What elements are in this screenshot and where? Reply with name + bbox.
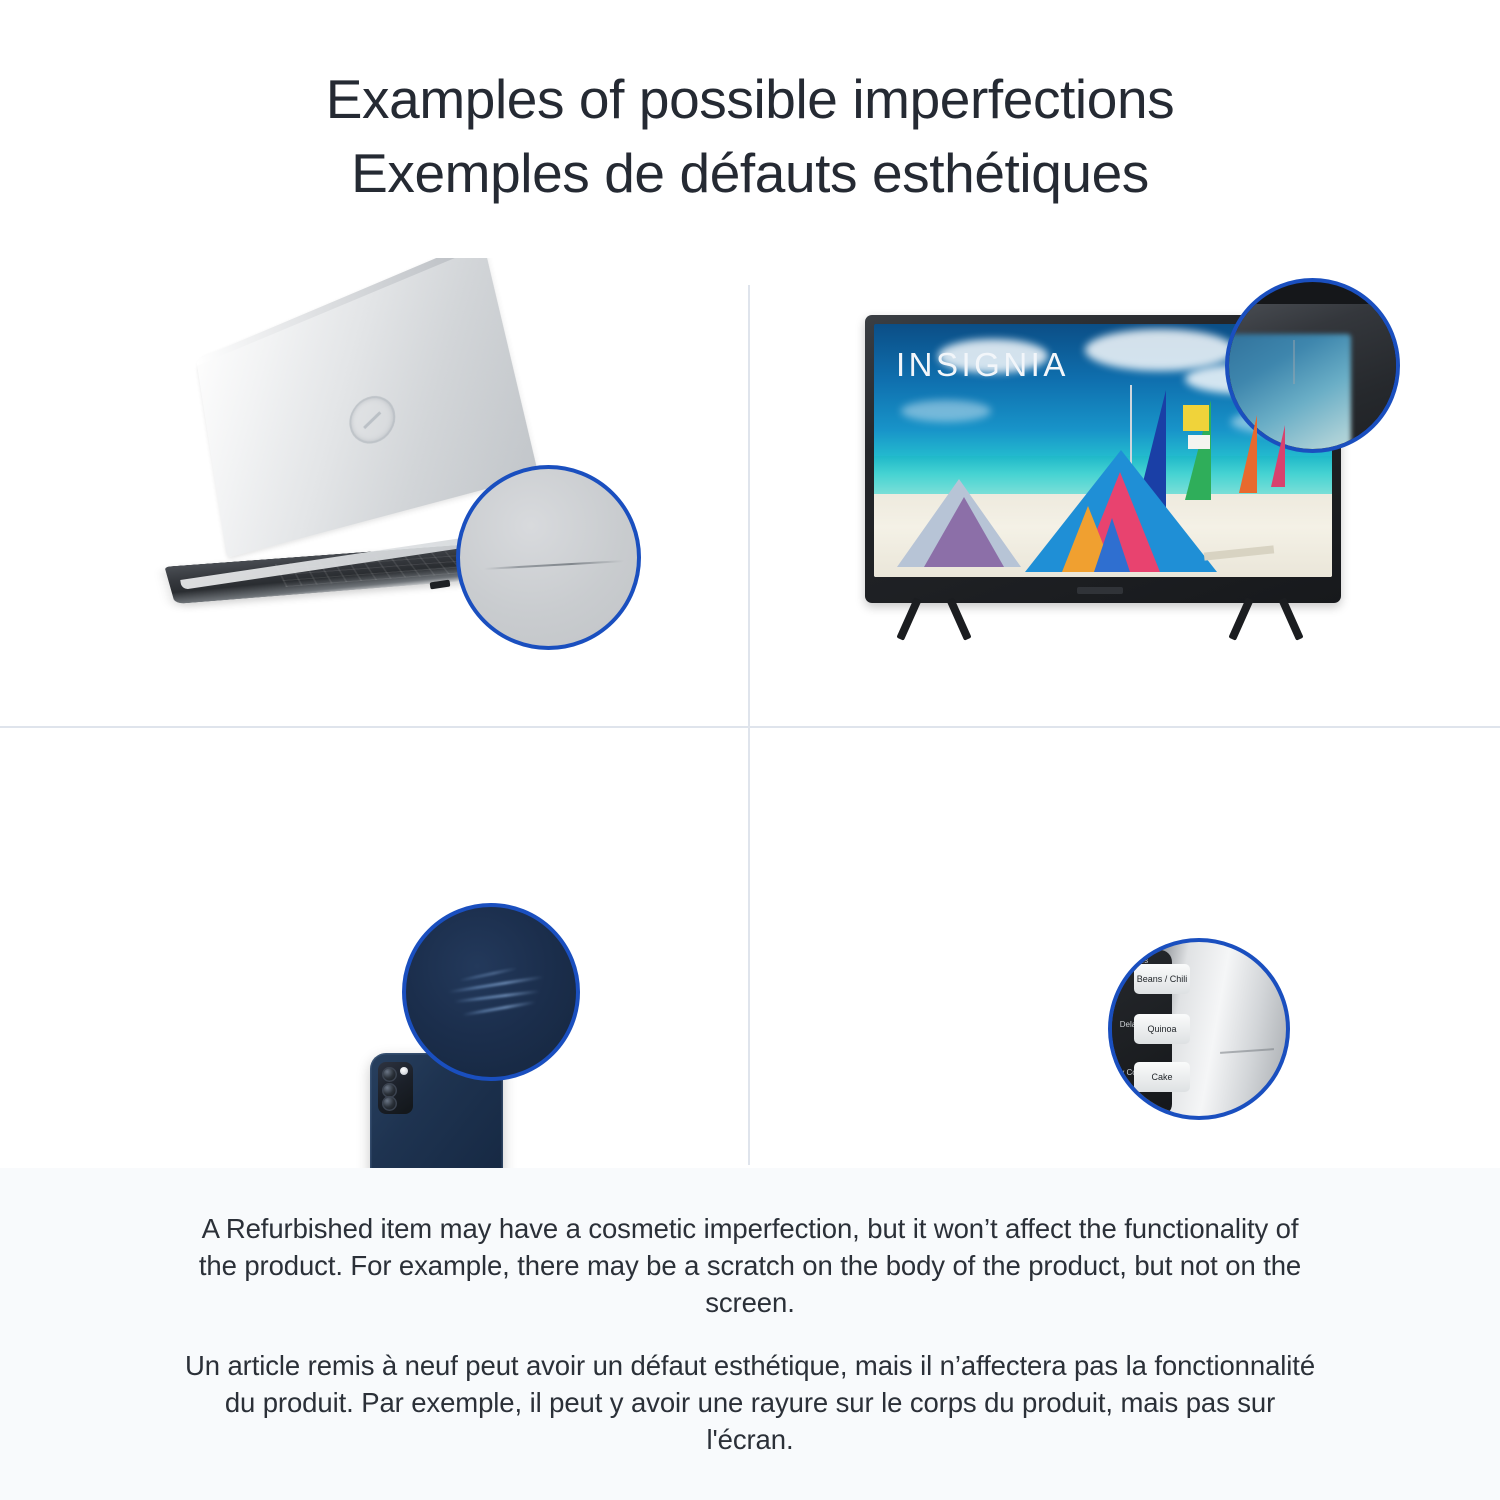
tv-leg: [946, 597, 971, 640]
cooker-zoom-button-cake[interactable]: Cake: [1134, 1062, 1190, 1092]
magnifier-cooker-scratch: Veggies Delay Slow Cook Beans / Chili Qu…: [1108, 938, 1290, 1120]
scuff-mark: [1293, 340, 1295, 384]
page-title-fr: Exemples de défauts esthétiques: [0, 136, 1500, 210]
tv-stand-right: [1233, 597, 1301, 641]
camera-lens-icon: [382, 1067, 397, 1082]
footer-paragraph-en: A Refurbished item may have a cosmetic i…: [184, 1210, 1316, 1321]
tv-front-logo-plate: [1077, 587, 1123, 594]
cooker-zoom-button-beans-chili[interactable]: Beans / Chili: [1134, 964, 1190, 994]
scratch-mark: [1220, 1048, 1274, 1053]
cloud-shape: [901, 400, 991, 422]
page-title-en: Examples of possible imperfections: [0, 62, 1500, 136]
tv-stand-left: [901, 597, 969, 641]
scratch-mark: [484, 560, 624, 570]
tv-leg: [1228, 597, 1253, 640]
footer-paragraph-fr: Un article remis à neuf peut avoir un dé…: [184, 1347, 1316, 1458]
camera-lens-icon: [382, 1096, 397, 1111]
beached-sail-shape: [924, 497, 1004, 567]
beached-sail-shape: [1094, 518, 1130, 572]
cooker-zoom-button-quinoa[interactable]: Quinoa: [1134, 1014, 1190, 1044]
tv-leg: [1278, 597, 1303, 640]
laptop-lid-edge: [196, 258, 484, 366]
tv-leg: [896, 597, 921, 640]
sail-stripe-shape: [1188, 435, 1210, 449]
example-cell-laptop: [0, 258, 748, 726]
footer-description: A Refurbished item may have a cosmetic i…: [0, 1168, 1500, 1500]
tv-brand-logo: INSIGNIA: [896, 346, 1069, 384]
sailboat-shape: [1236, 415, 1257, 493]
dell-logo-icon: [345, 389, 399, 449]
example-cell-phone: [0, 728, 748, 1168]
camera-flash-icon: [400, 1067, 408, 1075]
phone-camera-module: [378, 1062, 413, 1114]
magnifier-laptop-scratch: [456, 465, 641, 650]
sail-stripe-shape: [1183, 405, 1209, 431]
laptop-port: [430, 580, 451, 590]
sailboat-shape: [1268, 425, 1285, 487]
cloud-shape: [1085, 329, 1235, 371]
page-header: Examples of possible imperfections Exemp…: [0, 0, 1500, 210]
scratch-mark: [462, 1001, 535, 1017]
magnifier-phone-scratch: [402, 903, 580, 1081]
